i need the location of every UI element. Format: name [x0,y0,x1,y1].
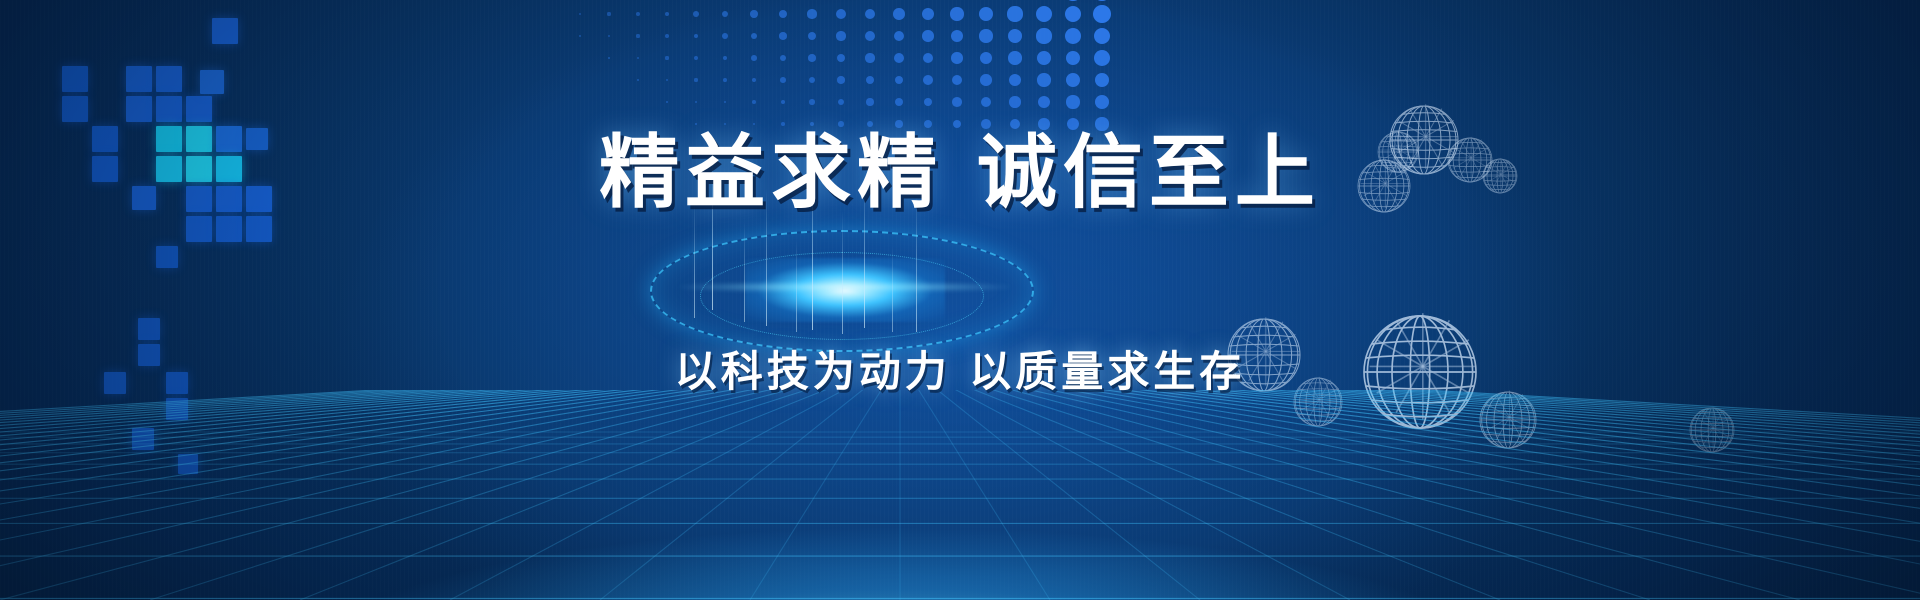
halftone-dot [924,98,933,107]
halftone-dot [1008,51,1021,64]
halftone-dot [922,30,934,42]
halftone-dot [952,97,962,107]
halftone-dot [895,98,903,106]
halftone-dot [693,11,699,17]
pixel-square [62,66,88,92]
halftone-dot [808,32,816,40]
halftone-dot [666,79,668,81]
halftone-dot [608,35,610,37]
halftone-dot [1066,51,1081,66]
halftone-dot [865,9,876,20]
halftone-dot [895,76,904,85]
halftone-dot [637,79,638,80]
pixel-square [212,18,238,44]
halftone-dot [665,34,669,38]
halftone-dot [836,9,846,19]
halftone-dot [779,32,786,39]
halftone-dot [866,98,873,105]
halftone-dot [1094,50,1110,66]
halftone-dot [807,9,816,18]
halftone-dot [608,57,609,58]
halftone-dot [723,56,728,61]
halftone-dot [780,77,786,83]
halftone-dot [722,11,729,18]
halftone-dot [722,33,728,39]
halftone-dot [1036,6,1052,22]
halftone-dot [579,13,581,15]
halftone-dot [979,7,993,21]
halftone-dot [1066,95,1079,108]
halftone-dot [1007,6,1022,21]
pixel-square [126,66,152,92]
halftone-dot [1065,6,1082,23]
core-light-streak [680,282,1010,292]
pixel-square [138,318,160,340]
halftone-dot [636,34,639,37]
halftone-dot [952,75,963,86]
page-title: 精益求精 诚信至上 [0,108,1920,224]
halftone-dot [922,8,935,21]
halftone-dot [894,31,905,42]
halftone-dot [865,31,875,41]
halftone-dot [750,10,757,17]
page-subtitle: 以科技为动力 以质量求生存 [0,338,1920,399]
halftone-dot [1093,0,1111,1]
perspective-grid-floor [0,390,1920,600]
halftone-dot [752,78,757,83]
halftone-dot [579,35,580,36]
pixel-square [156,246,178,268]
halftone-dot [980,74,992,86]
halftone-dot [1095,73,1110,88]
halftone-dot [637,57,639,59]
light-streak [744,222,745,322]
halftone-dot [1094,28,1111,45]
halftone-dot [979,29,992,42]
halftone-dot [636,12,640,16]
halftone-dot [1037,51,1051,65]
pixel-square [200,70,224,94]
halftone-dot [781,100,786,105]
halftone-dot [665,56,668,59]
halftone-dot [838,99,844,105]
pixel-square [156,66,182,92]
halftone-dot [1036,28,1051,43]
halftone-dot [1037,73,1050,86]
light-streak [892,246,893,332]
halftone-dot [694,56,698,60]
halftone-dot [1065,28,1081,44]
halftone-dot [981,97,992,108]
light-streak [796,240,797,332]
light-streak [842,210,843,334]
halftone-dot [837,76,844,83]
halftone-dot [1009,96,1020,107]
halftone-dot [865,53,874,62]
halftone-dot [951,30,963,42]
halftone-dot [837,54,845,62]
halftone-dot [724,101,727,104]
halftone-dot [923,75,933,85]
halftone-dot [1095,95,1109,109]
halftone-dot [665,12,670,17]
halftone-dot [980,52,992,64]
halftone-dot [894,53,904,63]
halftone-dot [836,31,845,40]
halftone-dot [809,77,815,83]
halftone-dot [1066,73,1080,87]
halftone-dot [666,101,667,102]
halftone-dot [751,55,757,61]
halftone-dot [607,12,610,15]
halftone-dot [752,100,756,104]
banner-root: 精益求精 诚信至上 以科技为动力 以质量求生存 [0,0,1920,600]
halftone-dot [1038,96,1050,108]
halftone-dot [923,53,934,64]
halftone-dot [694,34,699,39]
halftone-dot [808,54,815,61]
halftone-dot [1008,29,1022,43]
halftone-dot [1064,0,1082,1]
halftone-dot [866,76,874,84]
halftone-dot [893,8,905,20]
halftone-dot [951,52,963,64]
halftone-dot [1009,74,1021,86]
halftone-dot [950,7,963,20]
halftone-dot [695,101,697,103]
halftone-dot [779,10,787,18]
halftone-dot [694,78,697,81]
halftone-dot [751,33,758,40]
halftone-dot [780,55,786,61]
halftone-dot [809,99,815,105]
halftone-dot [1093,5,1111,23]
halftone-dot [723,78,727,82]
